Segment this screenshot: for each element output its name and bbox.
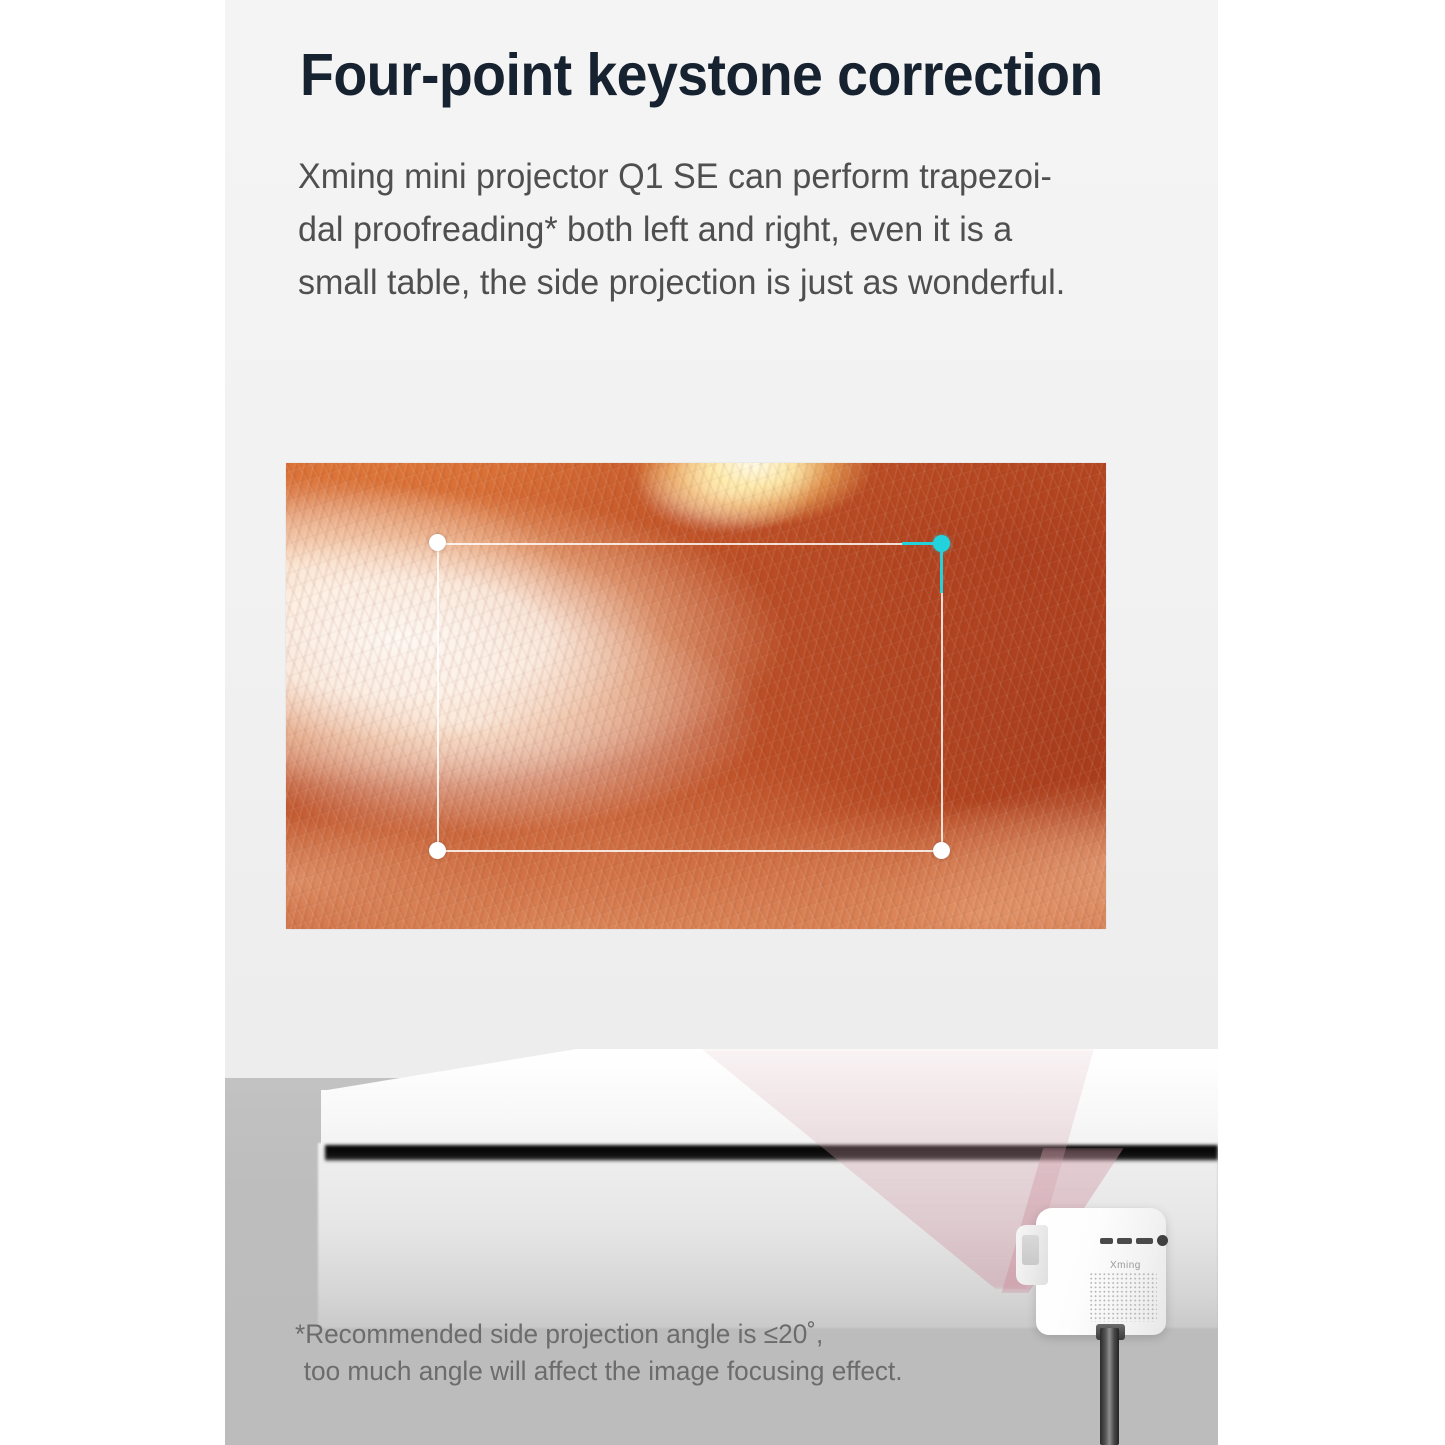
footnote-line-2: too much angle will affect the image foc… <box>295 1353 1032 1390</box>
tripod-pole <box>1100 1328 1119 1445</box>
projector-lens-housing <box>1016 1225 1048 1285</box>
body-line-1-text: Xming mini projector Q1 SE can perform t… <box>298 150 1052 203</box>
keystone-edge-top <box>442 543 902 545</box>
keystone-edge-right <box>941 593 943 851</box>
top-left-handle[interactable] <box>429 534 446 551</box>
page-title: Four-point keystone correction <box>300 44 1146 107</box>
body-line-2: dal proofreading* both left and right, e… <box>298 203 1155 256</box>
body-line-1: Xming mini projector Q1 SE can perform t… <box>298 150 1155 203</box>
top-right-handle[interactable] <box>933 535 950 552</box>
bottom-right-handle[interactable] <box>933 842 950 859</box>
keystone-edge-left <box>437 543 439 851</box>
keystone-edge-bottom <box>438 850 942 852</box>
content-panel: Four-point keystone correction Xming min… <box>225 0 1218 1445</box>
projector-brand-logo: Xming <box>1110 1260 1144 1271</box>
projected-image <box>286 463 1106 929</box>
usb-c-port <box>1100 1238 1113 1244</box>
usb-a-port <box>1117 1238 1132 1244</box>
body-line-2-text: dal proofreading* both left and right, e… <box>298 203 1012 256</box>
projector-device: Xming <box>1016 1200 1171 1335</box>
footnote: *Recommended side projection angle is ≤2… <box>295 1316 1032 1390</box>
footnote-line-1: *Recommended side projection angle is ≤2… <box>295 1316 1032 1353</box>
bottom-left-handle[interactable] <box>429 842 446 859</box>
keystone-overlay[interactable] <box>286 463 1106 929</box>
body-line-3: small table, the side projection is just… <box>298 256 1155 309</box>
body-paragraph: Xming mini projector Q1 SE can perform t… <box>298 150 1155 309</box>
speaker-grille <box>1089 1272 1157 1322</box>
body-line-3-text: small table, the side projection is just… <box>298 256 1065 309</box>
hdmi-port <box>1136 1238 1153 1244</box>
projector-lens <box>1022 1235 1039 1265</box>
power-jack <box>1157 1235 1168 1246</box>
product-feature-page: Four-point keystone correction Xming min… <box>0 0 1445 1445</box>
